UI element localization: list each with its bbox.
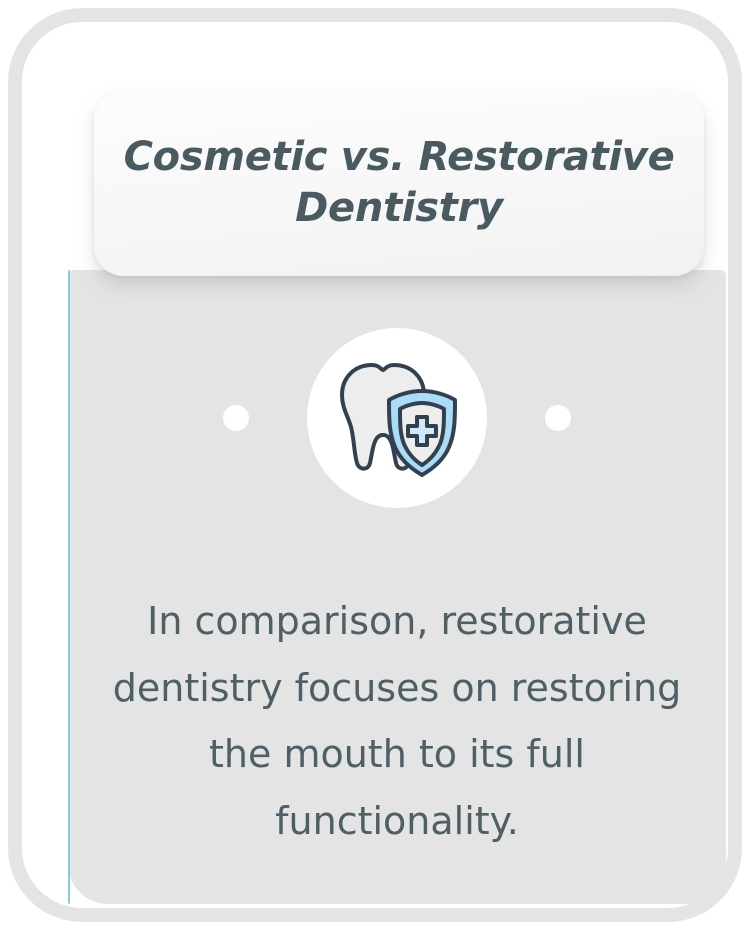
tooth-shield-icon [331,355,463,481]
icon-band [68,322,726,514]
card-frame: Cosmetic vs. Restorative Dentistry In co… [8,8,742,922]
decorative-dot-right [545,405,571,431]
icon-circle-backdrop [307,328,487,508]
title-panel: Cosmetic vs. Restorative Dentistry [94,90,704,276]
decorative-dot-left [223,405,249,431]
page-title: Cosmetic vs. Restorative Dentistry [109,132,689,234]
body-paragraph: In comparison, restorative dentistry foc… [82,588,712,854]
